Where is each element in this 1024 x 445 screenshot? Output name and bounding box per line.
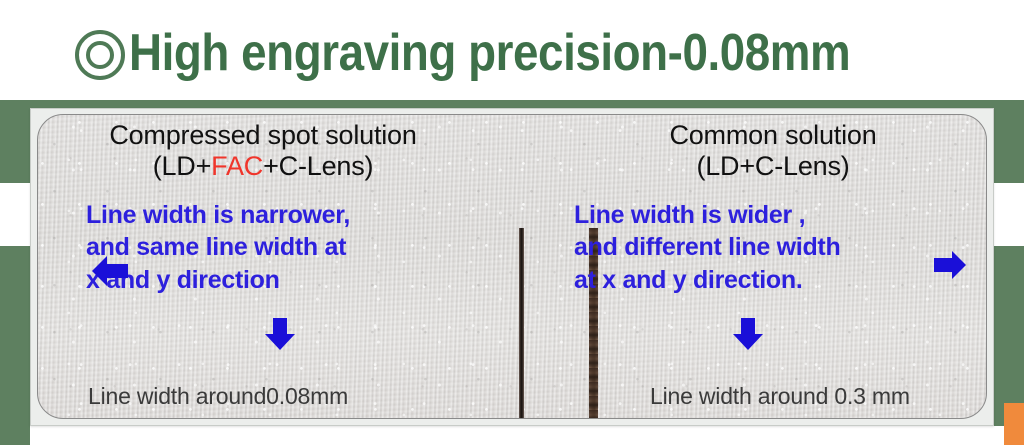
panel-left-body-line: and same line width at <box>86 231 478 264</box>
caption-left-line-width: Line width around0.08mm <box>88 383 348 410</box>
panel-common-solution: Common solution (LD+C-Lens) Line width i… <box>558 120 988 296</box>
frame-bar-left-lower <box>0 246 30 445</box>
panel-left-subtitle-suffix: +C-Lens) <box>263 151 373 181</box>
frame-bar-right-upper <box>994 100 1024 183</box>
panel-left-subtitle-highlight: FAC <box>211 151 263 181</box>
caption-right-line-width: Line width around 0.3 mm <box>650 383 910 410</box>
double-circle-icon <box>75 30 125 80</box>
panel-left-subtitle: (LD+FAC+C-Lens) <box>48 151 478 182</box>
frame-bar-right-lower <box>994 246 1024 426</box>
panel-right-body-line: Line width is wider , <box>574 199 988 232</box>
panel-left-title: Compressed spot solution <box>48 120 478 151</box>
panel-right-subtitle: (LD+C-Lens) <box>558 151 988 182</box>
panel-right-body-line: at x and y direction. <box>574 264 988 297</box>
arrow-down-icon <box>730 316 766 352</box>
panel-left-body-line: x and y direction <box>86 264 478 297</box>
frame-bar-left-upper <box>0 100 30 183</box>
page-title: High engraving precision-0.08mm <box>0 14 1024 92</box>
arrow-down-icon <box>262 316 298 352</box>
accent-bar-orange <box>1004 403 1024 445</box>
panel-left-subtitle-prefix: (LD+ <box>153 151 211 181</box>
panel-right-title: Common solution <box>558 120 988 151</box>
arrow-right-icon <box>932 248 968 282</box>
panel-right-body-line: and different line width <box>574 231 988 264</box>
panel-left-body-line: Line width is narrower, <box>86 199 478 232</box>
arrow-left-icon <box>90 252 130 290</box>
engraved-line-vertical-left <box>519 228 524 419</box>
panel-right-body: Line width is wider , and different line… <box>558 199 988 297</box>
page-title-text: High engraving precision-0.08mm <box>129 27 850 79</box>
slide-root: High engraving precision-0.08mm Compress… <box>0 0 1024 445</box>
